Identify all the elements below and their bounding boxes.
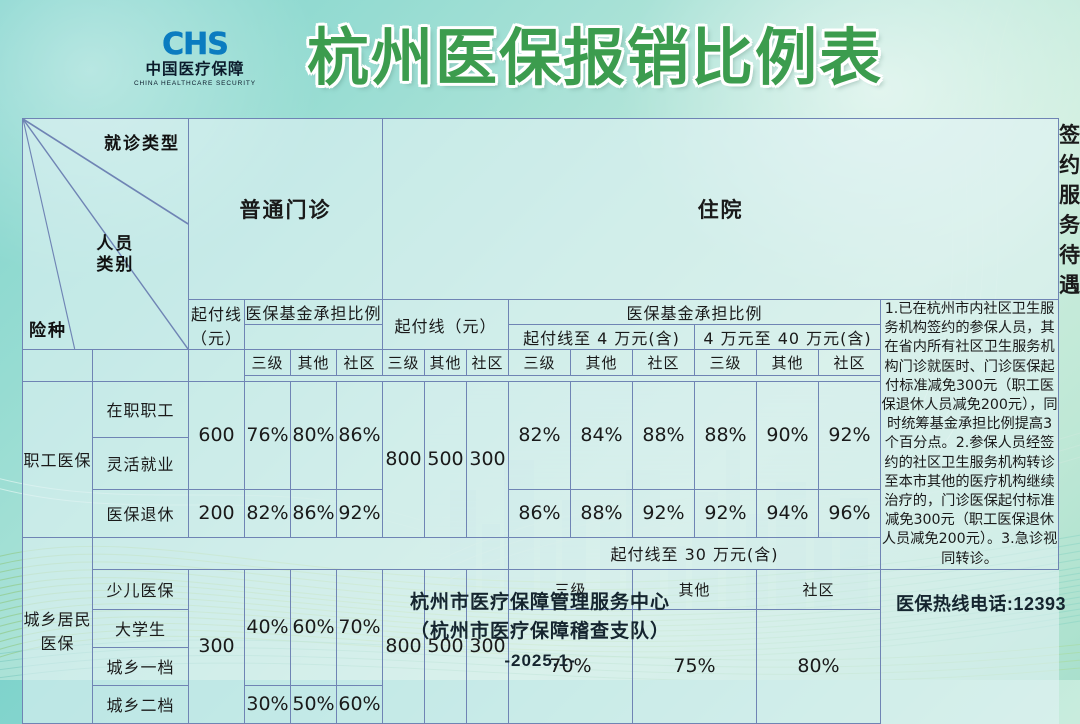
cell-ip-b2-retired-tertiary: 92% [695, 489, 757, 537]
cell-op-active-other: 80% [291, 381, 337, 489]
cell-ip-b2-retired-other: 94% [757, 489, 819, 537]
cell-op-resident-g2-tertiary: 30% [245, 685, 291, 723]
resident-band-spacer [93, 537, 509, 569]
ip-band1-level-tertiary: 三级 [509, 350, 571, 376]
cell-op-retired-tertiary: 82% [245, 489, 291, 537]
cell-ip-b1-retired-other: 88% [571, 489, 633, 537]
spacer-insurance-col [23, 350, 93, 382]
spacer-op-deductible-col [189, 350, 245, 382]
footer-hotline: 医保热线电话:12393 [896, 590, 1066, 616]
page-header: CHS 中国医疗保障 CHINA HEALTHCARE SECURITY 杭州医… [0, 0, 1080, 112]
cell-ip-b1-active-community: 88% [633, 381, 695, 489]
ip-band1-level-other: 其他 [571, 350, 633, 376]
chs-logo-chinese: 中国医疗保障 [133, 61, 257, 79]
op-fund-ratio-header: 医保基金承担比例 [245, 300, 383, 325]
row-category-active-employee: 在职职工 [93, 381, 189, 437]
cell-op-deductible-active: 600 [189, 381, 245, 489]
ip-ded-level-other: 其他 [425, 350, 467, 376]
footer-org-line1: 杭州市医疗保障管理服务中心 [300, 588, 780, 617]
cell-ip-b1-active-tertiary: 82% [509, 381, 571, 489]
op-level-community: 社区 [337, 350, 383, 376]
ip-band2-header: 4 万元至 40 万元(含) [695, 325, 881, 350]
ip-ded-level-community: 社区 [467, 350, 509, 376]
page-title: 杭州医保报销比例表 [285, 22, 905, 96]
cell-op-resident-g2-community: 60% [337, 685, 383, 723]
chs-logo-english: CHINA HEALTHCARE SECURITY [133, 79, 257, 88]
cell-ip-deductible-tertiary-employee: 800 [383, 381, 425, 537]
corner-label-visit-type: 就诊类型 [104, 129, 180, 154]
ip-resident-band-header: 起付线至 30 万元(含) [509, 537, 881, 569]
ip-ded-level-tertiary: 三级 [383, 350, 425, 376]
signed-service-note: 1.已在杭州市内社区卫生服务机构签约的参保人员，其在省内所有社区卫生服务机构门诊… [881, 300, 1059, 570]
footer-center-block: 杭州市医疗保障管理服务中心 （杭州市医疗保障稽查支队） -2025.1- [300, 588, 780, 675]
ip-band1-level-community: 社区 [633, 350, 695, 376]
cell-ip-b1-retired-community: 92% [633, 489, 695, 537]
group-header-inpatient: 住院 [383, 119, 1059, 300]
cell-op-resident-g2-other: 50% [291, 685, 337, 723]
cell-ip-b1-active-other: 84% [571, 381, 633, 489]
op-level-tertiary: 三级 [245, 350, 291, 376]
reimbursement-table-container: 就诊类型 人员类别 险种 普通门诊 住院 签约服务待遇 起付线（元） 医保基金承… [22, 118, 1058, 583]
cell-op-deductible-retired: 200 [189, 489, 245, 537]
corner-label-person-category: 人员类别 [96, 234, 134, 276]
ip-fund-ratio-header: 医保基金承担比例 [509, 300, 881, 325]
ip-band2-level-community: 社区 [819, 350, 881, 376]
ip-band1-header: 起付线至 4 万元(含) [509, 325, 695, 350]
cell-ip-b2-active-other: 90% [757, 381, 819, 489]
cell-ip-b1-retired-tertiary: 86% [509, 489, 571, 537]
cell-ip-b2-active-community: 92% [819, 381, 881, 489]
cell-ip-b2-active-tertiary: 88% [695, 381, 757, 489]
cell-ip-b2-retired-community: 96% [819, 489, 881, 537]
row-insurance-employee: 职工医保 [23, 381, 93, 537]
corner-label-insurance-type: 险种 [29, 316, 67, 341]
footer-org-line2: （杭州市医疗保障稽查支队） [300, 617, 780, 646]
cell-ip-deductible-other-employee: 500 [425, 381, 467, 537]
op-level-band-spacer [245, 325, 383, 350]
corner-header-cell: 就诊类型 人员类别 险种 [23, 119, 189, 350]
cell-op-active-tertiary: 76% [245, 381, 291, 489]
row-category-retired: 医保退休 [93, 489, 189, 537]
spacer-category-col [93, 350, 189, 382]
table-header-groups: 就诊类型 人员类别 险种 普通门诊 住院 签约服务待遇 [23, 119, 1059, 300]
chs-logo-mark: CHS [133, 30, 257, 60]
group-header-outpatient: 普通门诊 [189, 119, 383, 300]
cell-op-retired-community: 92% [337, 489, 383, 537]
row-category-flexible-employment: 灵活就业 [93, 437, 189, 489]
ip-band2-level-other: 其他 [757, 350, 819, 376]
cell-op-retired-other: 86% [291, 489, 337, 537]
op-deductible-header: 起付线（元） [189, 300, 245, 350]
cell-ip-deductible-community-employee: 300 [467, 381, 509, 537]
op-level-other: 其他 [291, 350, 337, 376]
chs-logo: CHS 中国医疗保障 CHINA HEALTHCARE SECURITY [133, 30, 257, 96]
row-category-urban-rural-tier2: 城乡二档 [93, 685, 189, 723]
ip-deductible-header: 起付线（元） [383, 300, 509, 350]
page-footer: 杭州市医疗保障管理服务中心 （杭州市医疗保障稽查支队） -2025.1- 医保热… [0, 588, 1080, 680]
cell-op-active-community: 86% [337, 381, 383, 489]
ip-band2-level-tertiary: 三级 [695, 350, 757, 376]
footer-date: -2025.1- [300, 646, 780, 675]
